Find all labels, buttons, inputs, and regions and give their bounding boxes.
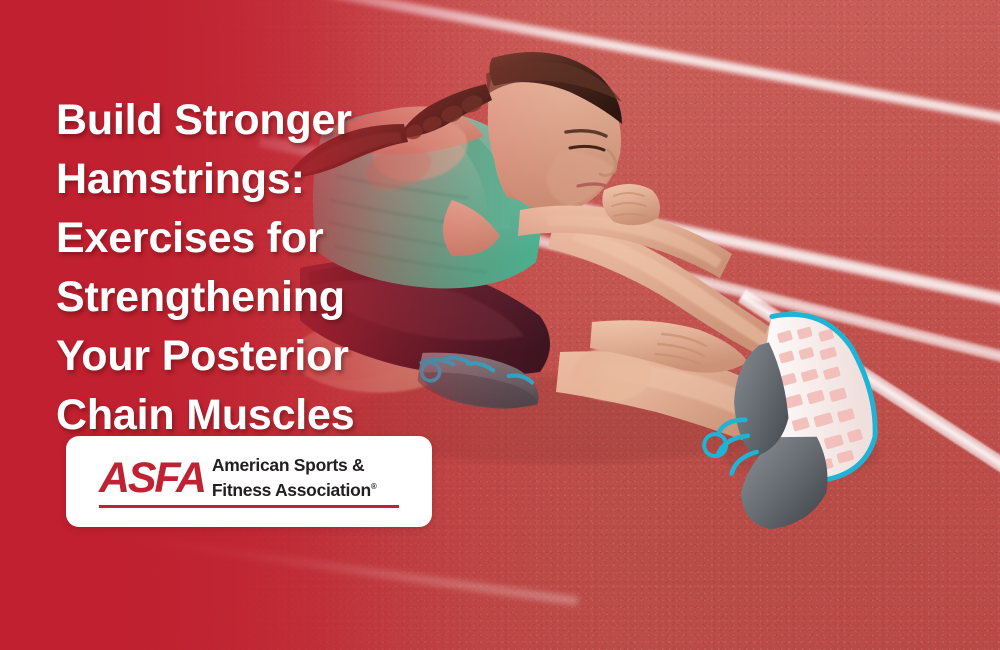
registered-trademark-icon: ® <box>371 482 377 491</box>
blog-header-banner: Build Stronger Hamstrings: Exercises for… <box>0 0 1000 650</box>
asfa-logo-card[interactable]: ASFA American Sports & Fitness Associati… <box>66 436 432 527</box>
asfa-name-line-1: American Sports & <box>212 455 377 476</box>
asfa-logo-row: ASFA American Sports & Fitness Associati… <box>99 455 376 501</box>
asfa-full-name: American Sports & Fitness Association® <box>212 455 377 501</box>
asfa-name-line-2: Fitness Association <box>212 480 371 500</box>
asfa-name-line-2-wrap: Fitness Association® <box>212 476 377 501</box>
asfa-wordmark: ASFA <box>99 456 205 500</box>
asfa-logo-underline <box>99 505 399 508</box>
asfa-logo-inner: ASFA American Sports & Fitness Associati… <box>99 455 399 508</box>
page-title: Build Stronger Hamstrings: Exercises for… <box>56 91 456 445</box>
